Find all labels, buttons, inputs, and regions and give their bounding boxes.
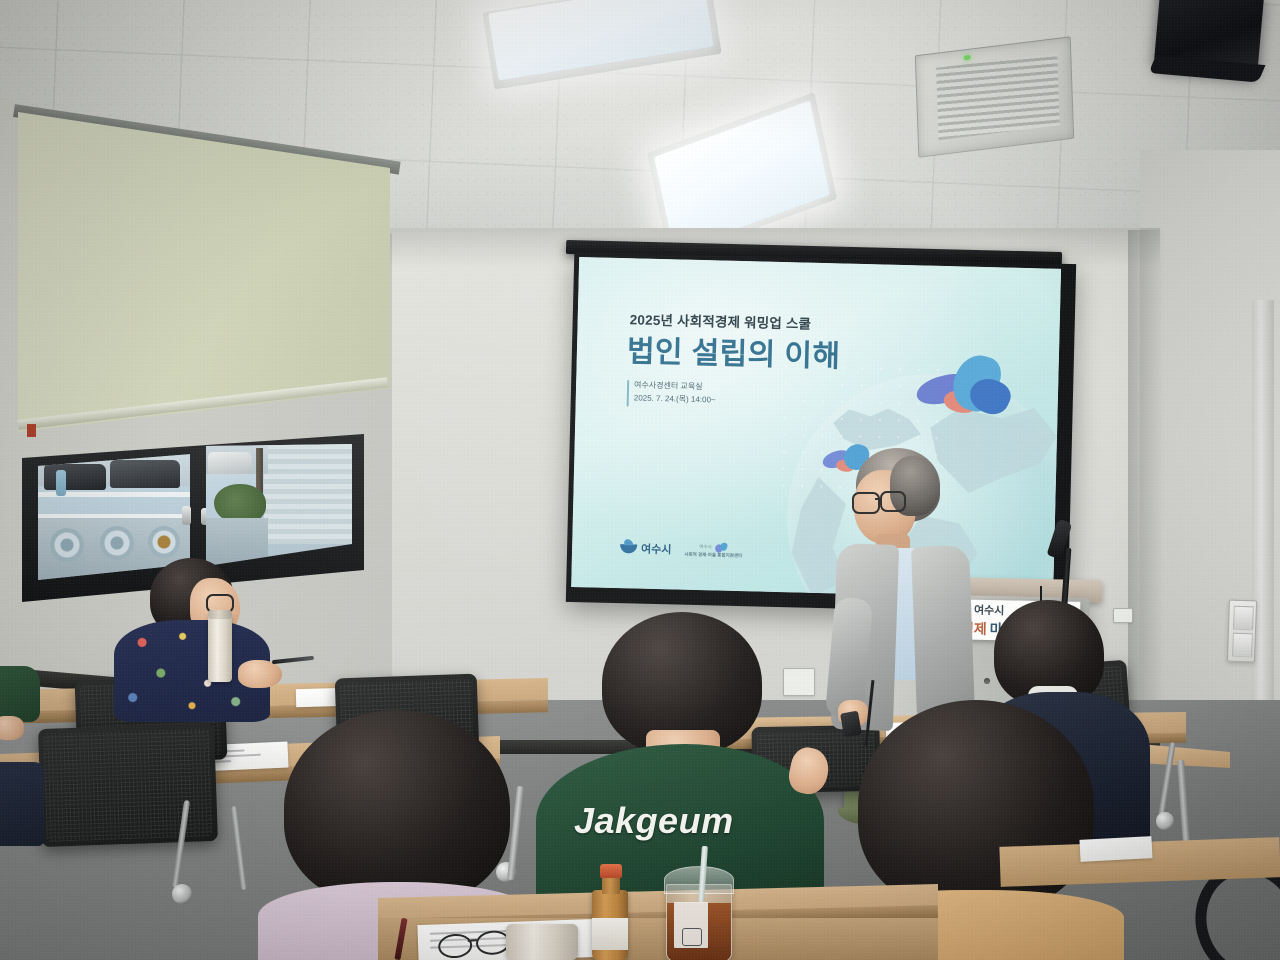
slide-logo-row: 여수시 여수시 사회적 경제·마을 통합지원센터 xyxy=(620,540,743,559)
slide-title: 법인 설립의 이해 xyxy=(626,326,840,375)
slide-venue: 여수사경센터 교육실 xyxy=(634,379,703,392)
ceiling-vent xyxy=(915,36,1074,157)
vent-indicator-light xyxy=(964,55,971,61)
handout-right xyxy=(1079,836,1152,862)
chair-mesh xyxy=(43,728,213,842)
window-pattern-circle-3 xyxy=(148,526,180,558)
switch-key-2[interactable] xyxy=(1232,633,1253,658)
tumbler-lid xyxy=(208,610,232,619)
building-siding xyxy=(264,444,352,544)
photo-scene: 2025년 사회적경제 워밍업 스쿨 법인 설립의 이해 여수사경센터 교육실 … xyxy=(0,0,1280,960)
presentation-slide: 2025년 사회적경제 워밍업 스쿨 법인 설립의 이해 여수사경센터 교육실 … xyxy=(571,257,1061,599)
glasses xyxy=(852,492,880,514)
car-dark-1 xyxy=(44,464,106,490)
window-pattern-circle-2 xyxy=(100,526,134,560)
window-pattern-circle-1 xyxy=(50,528,84,562)
attendee-top xyxy=(0,666,40,722)
attendee-trousers xyxy=(0,762,44,846)
presenter-jacket-right xyxy=(911,545,975,717)
glasses xyxy=(880,491,906,512)
car-white xyxy=(208,452,252,474)
attendee-window xyxy=(108,558,288,718)
bottle-label xyxy=(592,918,628,950)
chair-caster xyxy=(172,884,192,904)
cup-label-mark xyxy=(682,928,702,946)
chair-caster xyxy=(1156,812,1174,830)
support-center-logo: 여수시 사회적 경제·마을 통합지원센터 xyxy=(684,542,742,559)
foreground-tumbler xyxy=(506,924,578,960)
attendee-far-left xyxy=(0,666,54,846)
attendee-hand xyxy=(0,716,24,740)
slide-datetime: 2025. 7. 24.(목) 14:00~ xyxy=(634,392,716,406)
attendee-hand xyxy=(238,660,282,688)
butterfly-icon xyxy=(715,542,728,551)
attendee-hair xyxy=(284,710,510,906)
yeosu-city-logo-text: 여수시 xyxy=(641,541,672,558)
car-dark-2 xyxy=(110,460,180,488)
tshirt-text: Jakgeum xyxy=(574,800,734,842)
traffic-cone xyxy=(56,470,66,496)
glasses-bridge xyxy=(875,498,881,500)
projection-screen: 2025년 사회적경제 워밍업 스쿨 법인 설립의 이해 여수사경센터 교육실 … xyxy=(566,252,1076,614)
chair[interactable] xyxy=(38,723,218,847)
butterfly-large xyxy=(915,353,1013,423)
support-center-logo-line1: 여수시 xyxy=(699,544,712,550)
glasses-lens-left xyxy=(437,933,473,960)
vent-louvers xyxy=(936,53,1060,140)
yeosu-city-logo: 여수시 xyxy=(620,540,672,557)
tumbler xyxy=(208,614,232,682)
bottle-cap xyxy=(600,864,622,878)
switch-key-1[interactable] xyxy=(1233,606,1254,631)
window-latch[interactable] xyxy=(182,506,191,525)
light-switch-panel[interactable] xyxy=(1227,600,1257,663)
blind-pull-tag[interactable] xyxy=(27,424,36,437)
boat-icon xyxy=(620,544,637,553)
